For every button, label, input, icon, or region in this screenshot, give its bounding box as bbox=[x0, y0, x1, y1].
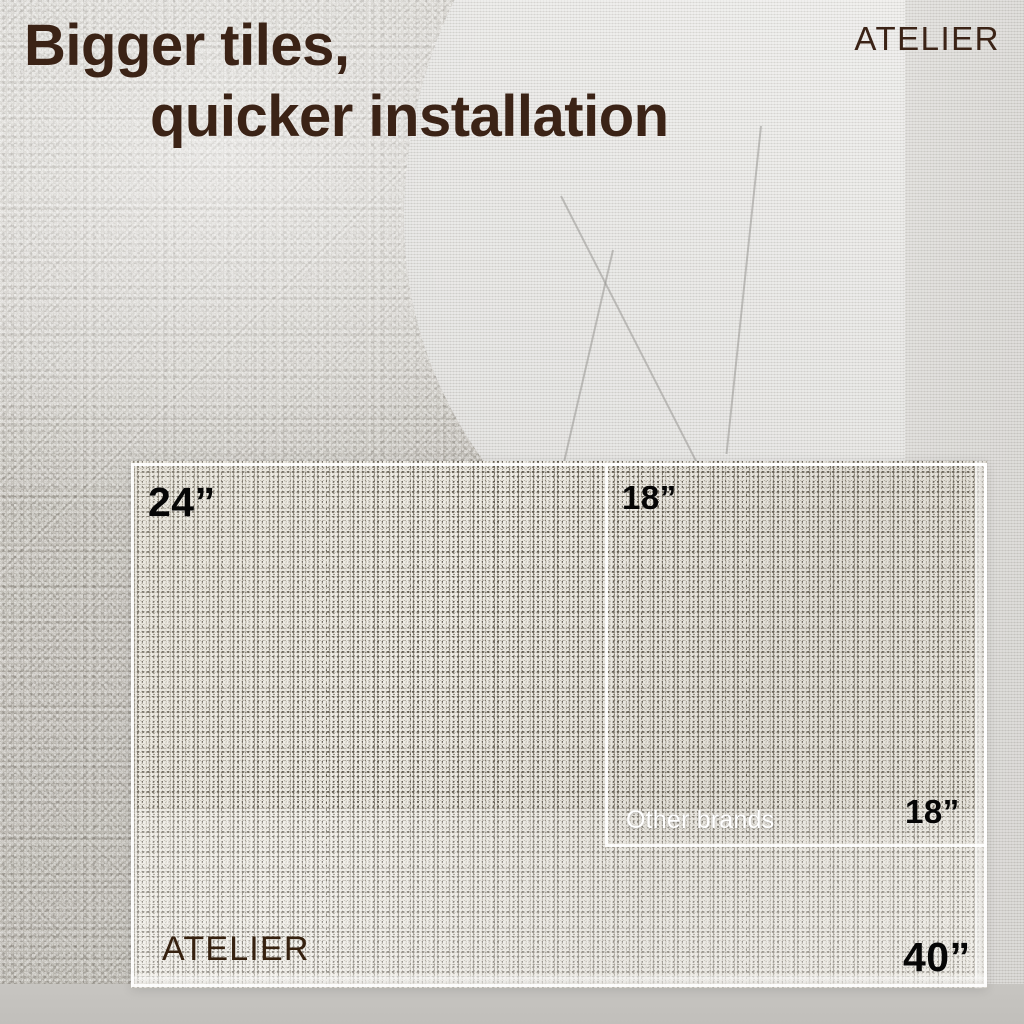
brand-wordmark-bottom: ATELIER bbox=[162, 930, 310, 969]
headline-line-2: quicker installation bbox=[0, 85, 900, 150]
product-comparison-graphic: Bigger tiles, quicker installation ATELI… bbox=[0, 0, 1024, 1024]
dimension-label-competitor-width: 18” bbox=[622, 479, 677, 517]
page-headline: Bigger tiles, quicker installation bbox=[0, 14, 900, 150]
headline-line-1: Bigger tiles, bbox=[0, 14, 900, 79]
dimension-label-competitor-height: 18” bbox=[905, 793, 960, 831]
dimension-label-atelier-width: 24” bbox=[148, 479, 216, 526]
floor-strip bbox=[0, 984, 1024, 1024]
dimension-label-atelier-length: 40” bbox=[903, 934, 971, 981]
competitor-caption: Other brands bbox=[626, 806, 774, 835]
brand-wordmark-top: ATELIER bbox=[854, 20, 1000, 58]
competitor-tile-outline[interactable] bbox=[605, 463, 987, 847]
